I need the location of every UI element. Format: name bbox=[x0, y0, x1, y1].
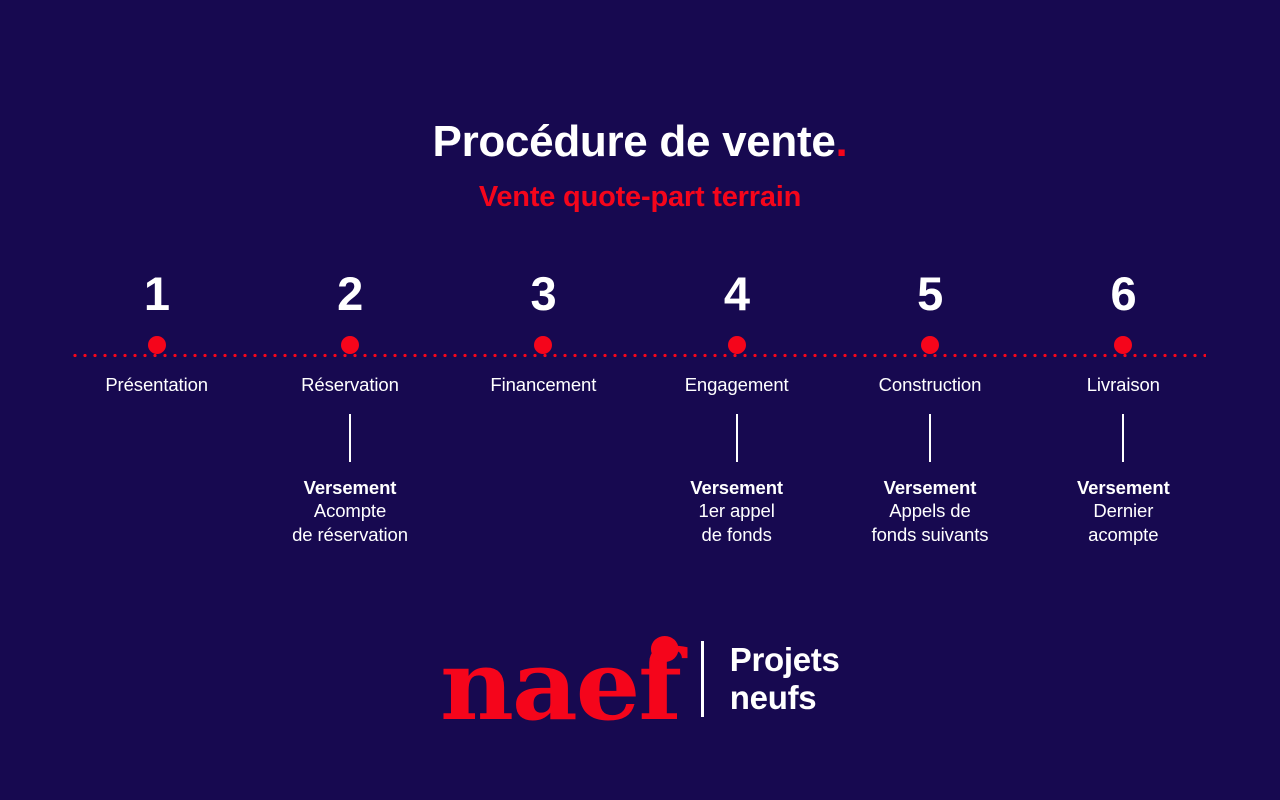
logo-divider bbox=[701, 641, 704, 717]
payment-detail-line-1: Acompte bbox=[292, 499, 408, 522]
payment-detail-line-2: de fonds bbox=[690, 523, 783, 546]
logo-tagline-line-1: Projets bbox=[730, 641, 840, 679]
page-subtitle: Vente quote-part terrain bbox=[0, 182, 1280, 214]
payment-title: Versement bbox=[1077, 476, 1170, 499]
step-label: Construction bbox=[879, 374, 982, 396]
step-dot-icon bbox=[534, 336, 552, 354]
page-title-text: Procédure de vente bbox=[433, 117, 836, 166]
timeline-steps: 1 Présentation 2 Réservation Versement A… bbox=[60, 270, 1220, 546]
step-connector-tick bbox=[349, 414, 351, 462]
payment-title: Versement bbox=[872, 476, 989, 499]
step-dot-icon bbox=[921, 336, 939, 354]
payment-title: Versement bbox=[292, 476, 408, 499]
timeline-step: 2 Réservation Versement Acompte de réser… bbox=[253, 270, 446, 546]
timeline-step: 1 Présentation bbox=[60, 270, 253, 546]
sales-procedure-timeline: 1 Présentation 2 Réservation Versement A… bbox=[0, 270, 1280, 570]
step-payment-block: Versement Appels de fonds suivants bbox=[872, 476, 989, 546]
payment-detail-line-2: acompte bbox=[1077, 523, 1170, 546]
logo-tagline-line-2: neufs bbox=[730, 679, 840, 717]
step-dot-icon bbox=[728, 336, 746, 354]
step-dot-icon bbox=[148, 336, 166, 354]
timeline-step: 4 Engagement Versement 1er appel de fond… bbox=[640, 270, 833, 546]
payment-detail-line-1: Appels de bbox=[872, 499, 989, 522]
brand-logo-inner: naef Projets neufs bbox=[440, 624, 839, 734]
step-label: Engagement bbox=[685, 374, 789, 396]
step-number: 2 bbox=[337, 270, 363, 324]
payment-detail-line-1: 1er appel bbox=[690, 499, 783, 522]
step-number: 6 bbox=[1110, 270, 1136, 324]
step-payment-block: Versement Dernier acompte bbox=[1077, 476, 1170, 546]
logo-tagline: Projets neufs bbox=[730, 641, 840, 716]
step-number: 3 bbox=[531, 270, 557, 324]
step-payment-block: Versement Acompte de réservation bbox=[292, 476, 408, 546]
step-number: 1 bbox=[144, 270, 170, 324]
header: Procédure de vente. Vente quote-part ter… bbox=[0, 118, 1280, 214]
payment-detail-line-2: fonds suivants bbox=[872, 523, 989, 546]
step-connector-tick bbox=[929, 414, 931, 462]
naef-wordmark-text: naef bbox=[440, 629, 680, 742]
timeline-step: 5 Construction Versement Appels de fonds… bbox=[833, 270, 1026, 546]
page-title-period: . bbox=[836, 117, 848, 166]
step-label: Réservation bbox=[301, 374, 399, 396]
brand-logo: naef Projets neufs bbox=[0, 624, 1280, 734]
payment-detail-line-1: Dernier bbox=[1077, 499, 1170, 522]
step-label: Livraison bbox=[1087, 374, 1160, 396]
step-payment-block: Versement 1er appel de fonds bbox=[690, 476, 783, 546]
timeline-step: 3 Financement bbox=[447, 270, 640, 546]
naef-wordmark: naef bbox=[440, 624, 680, 734]
page-title: Procédure de vente. bbox=[0, 118, 1280, 166]
payment-title: Versement bbox=[690, 476, 783, 499]
step-number: 4 bbox=[724, 270, 750, 324]
payment-detail-line-2: de réservation bbox=[292, 523, 408, 546]
step-dot-icon bbox=[1114, 336, 1132, 354]
step-connector-tick bbox=[1122, 414, 1124, 462]
step-connector-tick bbox=[736, 414, 738, 462]
step-dot-icon bbox=[341, 336, 359, 354]
step-label: Présentation bbox=[105, 374, 208, 396]
timeline-step: 6 Livraison Versement Dernier acompte bbox=[1027, 270, 1220, 546]
step-label: Financement bbox=[490, 374, 596, 396]
step-number: 5 bbox=[917, 270, 943, 324]
